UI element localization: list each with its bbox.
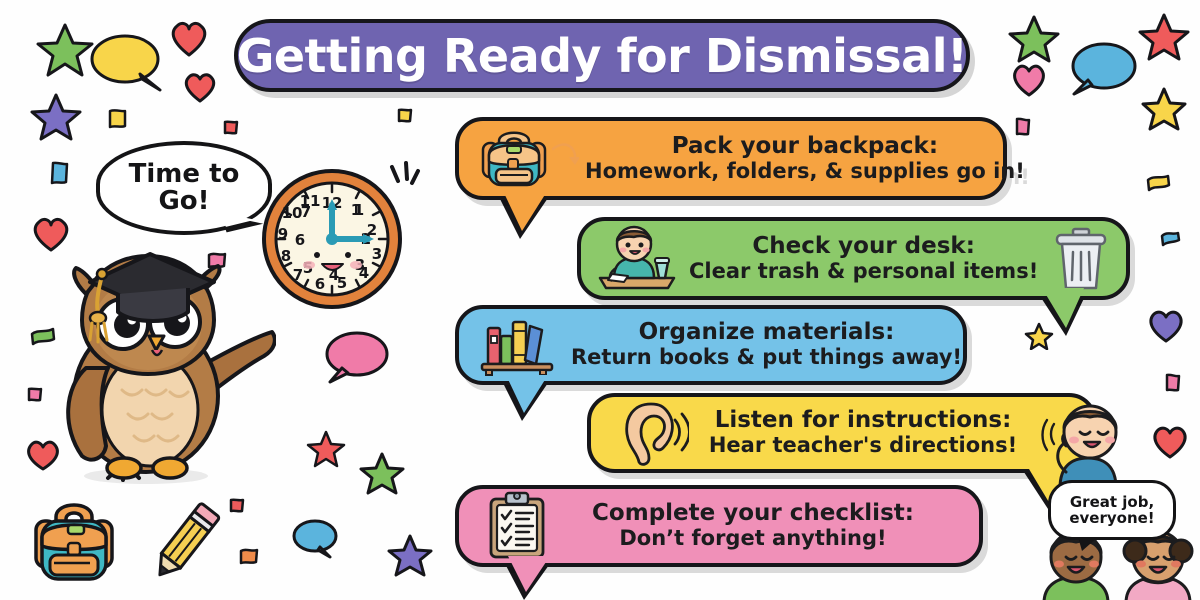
step-bubble-tail-3: [506, 375, 548, 413]
step-text-5: Complete your checklist: Don’t forget an…: [557, 501, 949, 550]
svg-text:8: 8: [281, 247, 291, 265]
step-subtitle-2: Clear trash & personal items!: [689, 260, 1038, 284]
great-job-line2: everyone!: [1069, 509, 1154, 527]
step-bubble-tail-2: [1042, 288, 1084, 328]
step-text-3: Organize materials: Return books & put t…: [565, 320, 968, 369]
speech-bubble-icon-yellow-topleft: [88, 32, 166, 94]
svg-text:7: 7: [293, 266, 303, 284]
heart-icon-purple-right: [1146, 308, 1186, 344]
poster-title-banner: Getting Ready for Dismissal!: [234, 19, 970, 92]
speech-bubble-icon-pink-mid: [322, 330, 392, 384]
bookshelf-icon: [473, 310, 565, 380]
star-icon-purple-bottom: [386, 534, 434, 578]
heart-icon-red-topleft: [168, 18, 210, 58]
ear-icon: [611, 398, 695, 468]
poster-canvas: Getting Ready for Dismissal! Time to Go!: [0, 0, 1200, 600]
step-bubble-complete-your-checklist[interactable]: Complete your checklist: Don’t forget an…: [455, 485, 983, 567]
step-subtitle-4: Hear teacher's directions!: [701, 434, 1025, 458]
svg-text:11: 11: [300, 192, 321, 210]
heart-icon-red-topleft2: [182, 70, 218, 104]
backpack-decoration: [22, 487, 126, 591]
step-title-3: Organize materials:: [571, 320, 962, 346]
heart-icon-red-right: [1150, 424, 1190, 460]
rotate-arrow-icon: [549, 139, 579, 179]
star-icon-red-topright: [1138, 12, 1190, 62]
ribbon-icon-pink-right: [1162, 372, 1184, 396]
speech-bubble-icon-blue-topright: [1068, 40, 1140, 98]
great-job-text: Great job, everyone!: [1069, 494, 1154, 527]
svg-text:6: 6: [315, 275, 325, 293]
step-subtitle-3: Return books & put things away!: [571, 346, 962, 370]
time-to-go-line1: Time to: [129, 159, 240, 189]
listening-child-icon: [1040, 396, 1136, 492]
trash-can-icon: [1044, 224, 1118, 294]
step-bubble-tail-1: [504, 193, 546, 231]
svg-text:6: 6: [295, 231, 305, 249]
time-to-go-line2: Go!: [158, 186, 209, 216]
pencil-decoration: [140, 495, 230, 591]
svg-text:9: 9: [278, 225, 288, 243]
great-job-bubble: Great job, everyone!: [1048, 480, 1176, 540]
ribbon-icon-yellow-topleft: [104, 108, 130, 132]
ribbon-icon-blue-left: [46, 160, 72, 188]
step-title-2: Check your desk:: [689, 234, 1038, 260]
star-icon-purple-topleft: [30, 92, 82, 142]
ribbon-icon-red-topmid: [220, 118, 242, 140]
ribbon-icon-orange-bottom: [236, 546, 262, 570]
step-subtitle-1: Homework, folders, & supplies go in!: [585, 160, 1025, 184]
step-title-1: Pack your backpack:: [585, 134, 1025, 160]
owl-mascot: [28, 228, 276, 490]
ribbon-icon-yellow-topmid: [394, 106, 416, 128]
svg-text:3: 3: [372, 245, 382, 263]
ribbon-icon-blue-right: [1158, 228, 1182, 250]
step-subtitle-5: Don’t forget anything!: [563, 527, 943, 551]
star-icon-yellow-topright: [1140, 86, 1188, 132]
svg-text:5: 5: [337, 274, 347, 292]
backpack-icon: [471, 122, 557, 196]
star-icon-green-topright: [1008, 14, 1060, 64]
heart-icon-pink-topright: [1010, 62, 1048, 98]
step-title-4: Listen for instructions:: [701, 408, 1025, 434]
great-job-line1: Great job,: [1070, 493, 1154, 511]
star-icon-green-topleft: [36, 22, 94, 78]
star-icon-green-bottom: [358, 452, 406, 496]
student-at-desk-icon: [591, 221, 683, 297]
step-bubble-pack-your-backpack[interactable]: Pack your backpack: Homework, folders, &…: [455, 117, 1007, 200]
clipboard-checklist-icon: [477, 490, 557, 562]
speech-bubble-icon-blue-bottom: [290, 518, 340, 560]
step-title-5: Complete your checklist:: [563, 501, 943, 527]
time-to-go-text: Time to Go!: [129, 161, 240, 216]
clock-motion-lines-icon: [380, 159, 424, 203]
svg-text:1: 1: [351, 201, 361, 219]
step-text-2: Check your desk: Clear trash & personal …: [683, 234, 1044, 283]
page-title: Getting Ready for Dismissal!: [237, 29, 968, 83]
wall-clock: 12 1 2 3 4 5 6 7 1 2 3 4 5 6 7 8 9 10: [256, 163, 408, 319]
star-icon-red-bottom: [306, 430, 346, 468]
step-bubble-listen-for-instructions[interactable]: Listen for instructions: Hear teacher's …: [587, 393, 1097, 473]
step-text-4: Listen for instructions: Hear teacher's …: [695, 408, 1031, 457]
step-bubble-organize-materials[interactable]: Organize materials: Return books & put t…: [455, 305, 967, 385]
step-text-1: Pack your backpack: Homework, folders, &…: [579, 134, 1031, 183]
step-bubble-tail-5: [508, 556, 550, 592]
ribbon-icon-yellow-right: [1144, 172, 1172, 196]
